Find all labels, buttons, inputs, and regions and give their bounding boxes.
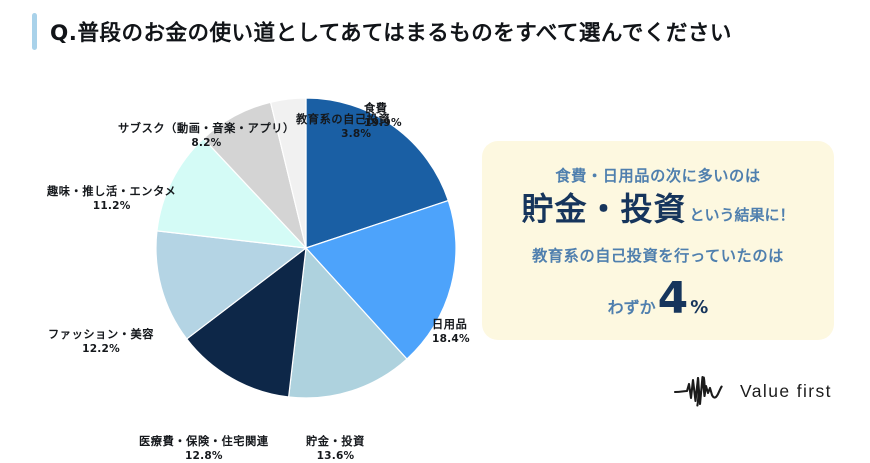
callout-line-2: 貯金・投資 という結果に！ [482, 193, 834, 225]
callout-box: 食費・日用品の次に多いのは 貯金・投資 という結果に！ 教育系の自己投資を行って… [482, 141, 834, 340]
pie-label-fashion-biyou: ファッション・美容 12.2% [48, 328, 154, 356]
waveform-signature-icon [673, 374, 729, 408]
pie-label-nichiyohin: 日用品 18.4% [432, 318, 470, 346]
callout-line-1: 食費・日用品の次に多いのは [482, 164, 834, 186]
callout-tail-text: という結果に！ [690, 204, 795, 225]
pie-label-subsc: サブスク（動画・音楽・アプリ） 8.2% [118, 122, 295, 150]
pie-label-value: 8.2% [118, 137, 295, 150]
callout-wazuka-text: わずか [608, 294, 656, 318]
pie-label-chokin-toshi: 貯金・投資 13.6% [306, 435, 365, 463]
slide-canvas: Q.普段のお金の使い道としてあてはまるものをすべて選んでください 食費 19.9… [0, 0, 870, 461]
brand-logo: Value first [673, 374, 832, 408]
callout-number: 4 [658, 277, 689, 321]
pie-label-kyoiku-jiko-toshi: 教育系の自己投資 3.8% [296, 113, 390, 141]
pie-label-iryohi-hoken-jutaku: 医療費・保険・住宅関連 12.8% [139, 435, 269, 463]
pie-label-name: 教育系の自己投資 [296, 113, 390, 127]
pie-label-name: 趣味・推し活・エンタメ [47, 185, 176, 199]
pie-label-name: 貯金・投資 [306, 435, 365, 449]
callout-emphasis-text: 貯金・投資 [521, 193, 686, 225]
logo-text: Value first [740, 381, 832, 402]
pie-label-name: ファッション・美容 [48, 328, 154, 342]
pie-label-value: 11.2% [47, 200, 176, 213]
title-accent-bar [32, 13, 37, 50]
callout-line-4: わずか 4 % [482, 277, 834, 321]
pie-label-name: 日用品 [432, 318, 470, 332]
pie-label-name: 医療費・保険・住宅関連 [139, 435, 269, 449]
page-title: Q.普段のお金の使い道としてあてはまるものをすべて選んでください [50, 16, 732, 47]
pie-label-value: 3.8% [322, 128, 390, 141]
pie-label-shumi-oshikatsu-entame: 趣味・推し活・エンタメ 11.2% [47, 185, 176, 213]
callout-percent-sign: % [690, 297, 708, 318]
callout-line-3: 教育系の自己投資を行っていたのは [482, 244, 834, 266]
pie-label-value: 12.2% [48, 343, 154, 356]
pie-label-name: サブスク（動画・音楽・アプリ） [118, 122, 295, 136]
pie-chart-area: 食費 19.9% 日用品 18.4% 貯金・投資 13.6% 医療費・保険・住宅… [0, 55, 480, 455]
page-title-row: Q.普段のお金の使い道としてあてはまるものをすべて選んでください [32, 13, 732, 50]
pie-label-value: 18.4% [432, 333, 470, 346]
